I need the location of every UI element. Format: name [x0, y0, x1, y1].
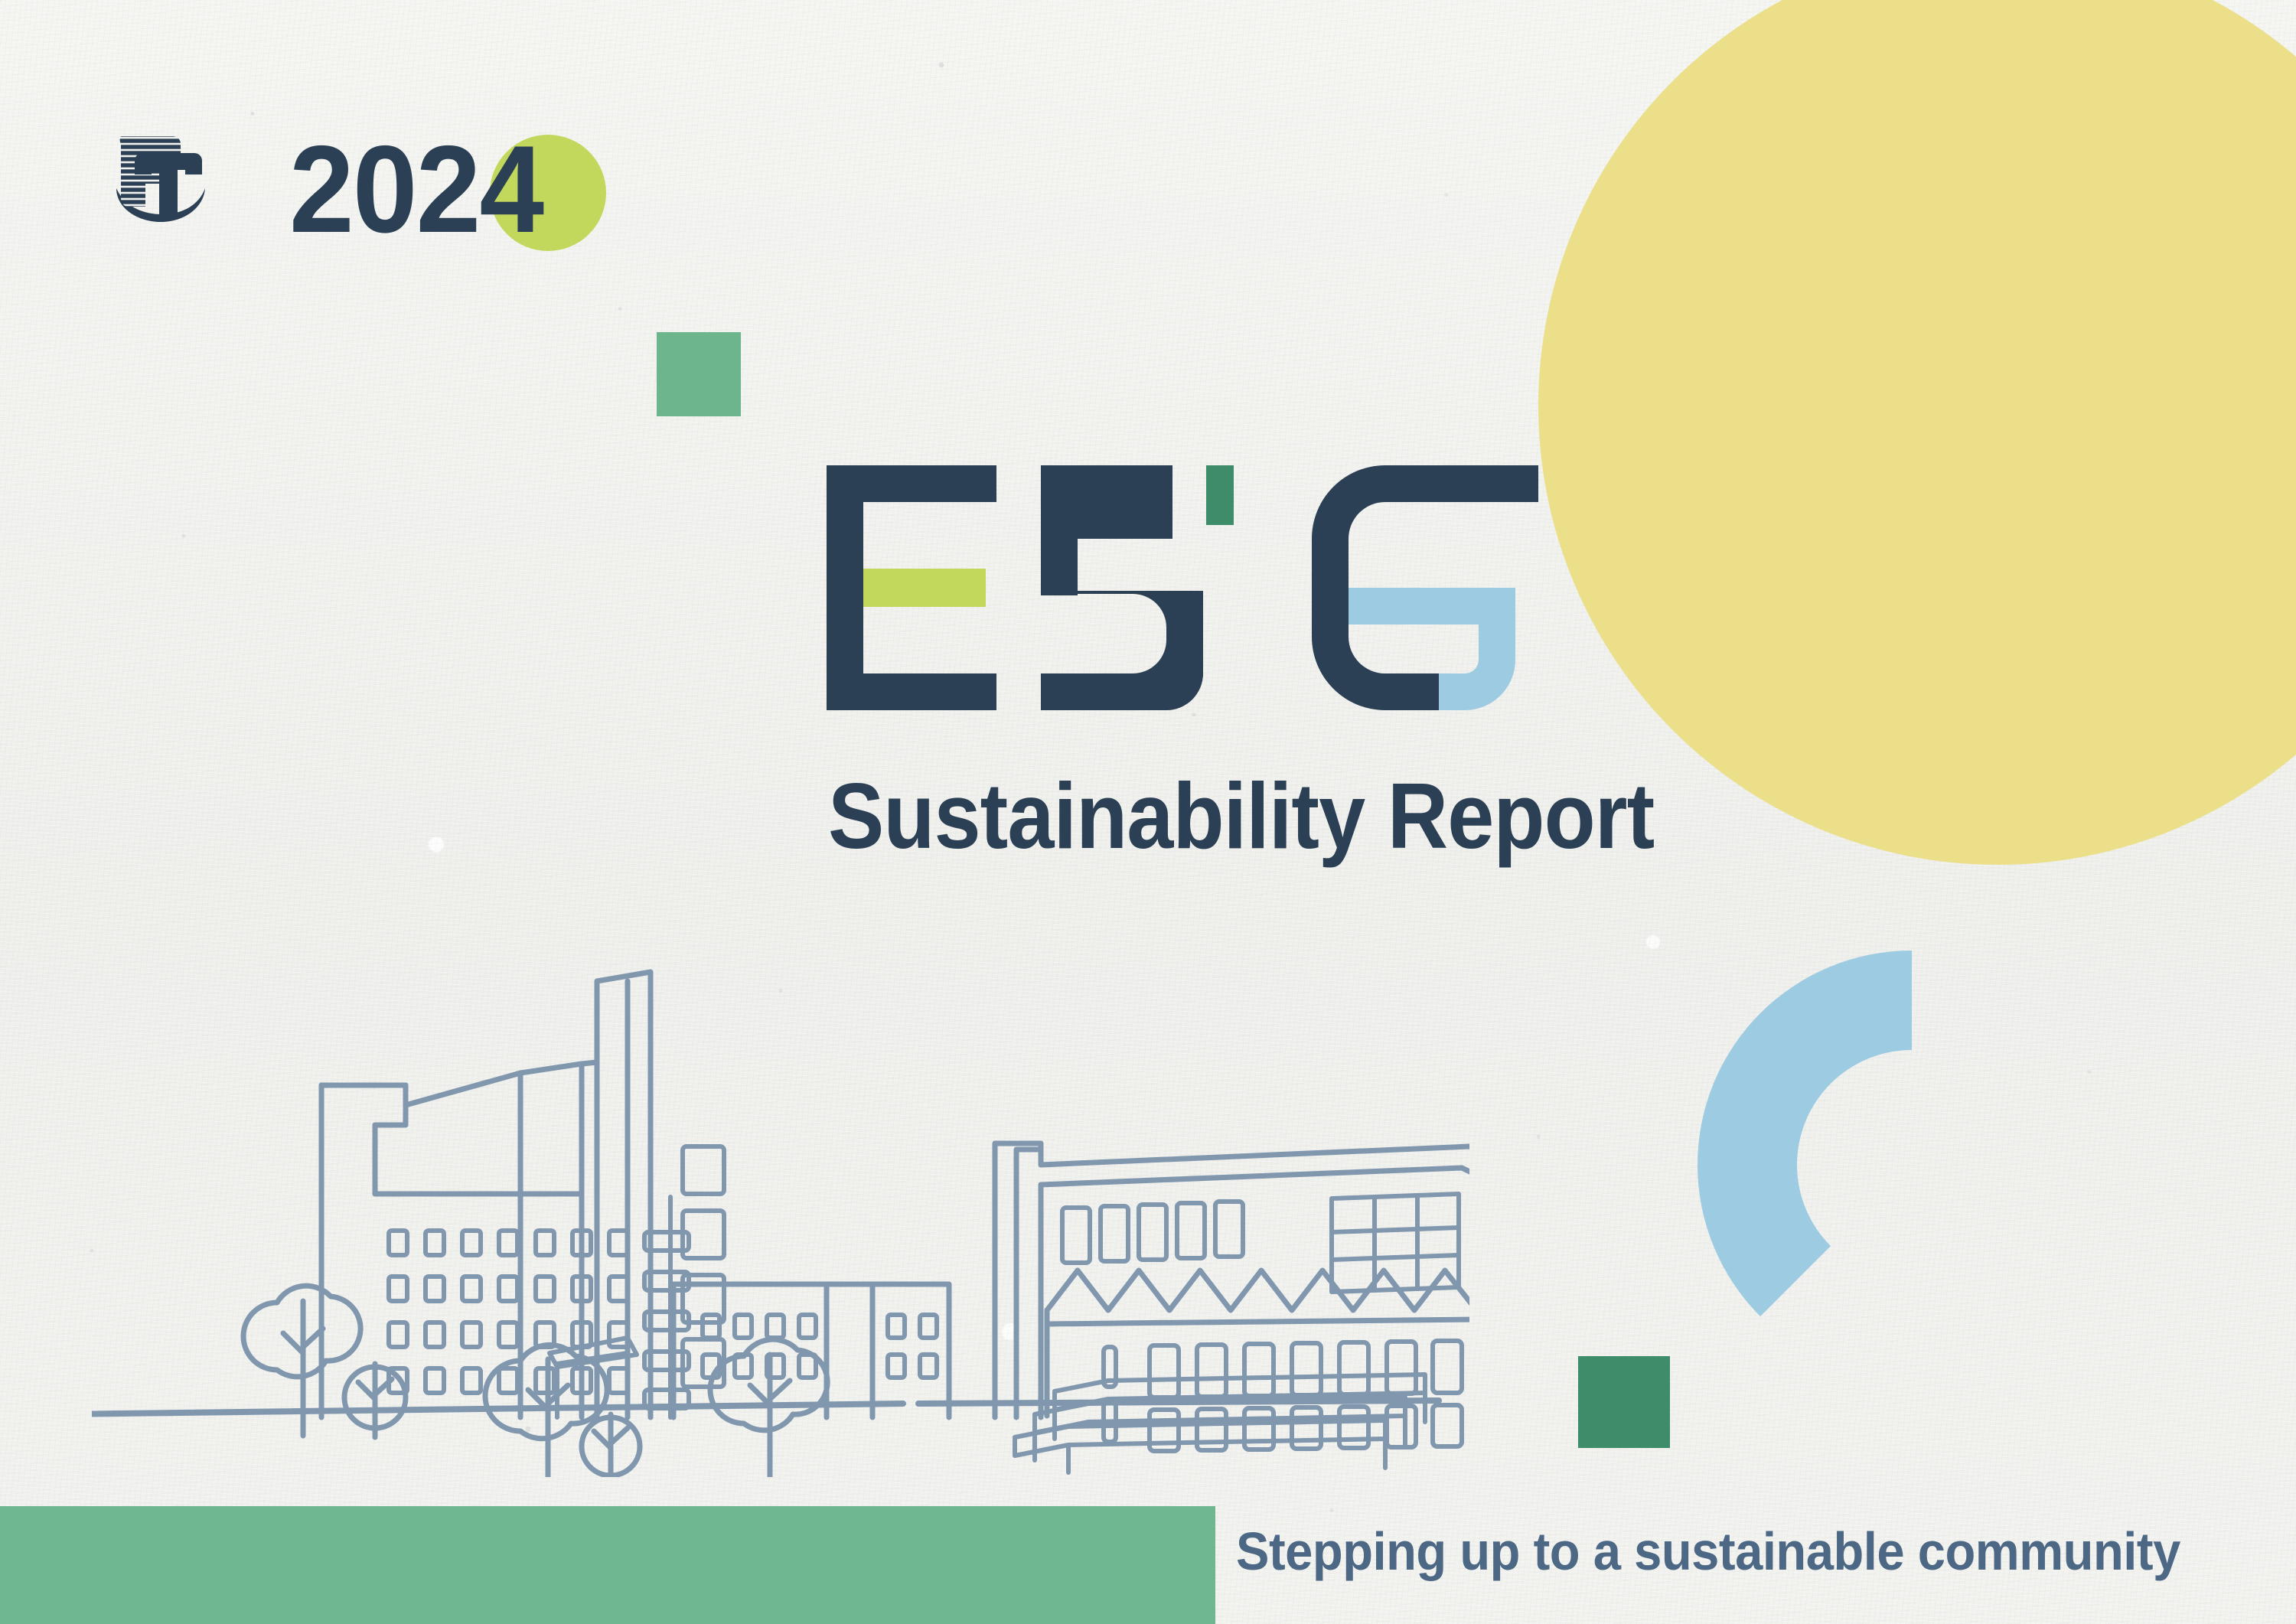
page-title: Sustainability Report — [828, 765, 1792, 866]
forest-green-square-decoration — [1578, 1356, 1670, 1448]
factory-campus-illustration — [92, 941, 1469, 1477]
year-badge: 2024 — [289, 113, 559, 266]
report-cover: 2024 — [0, 0, 2296, 1624]
esg-green-accent — [1206, 465, 1234, 525]
green-footer-bar — [0, 1506, 1215, 1624]
cover-header: 2024 — [0, 0, 2296, 291]
year-label: 2024 — [289, 113, 543, 266]
cover-tagline: Stepping up to a sustainable community — [1236, 1521, 2204, 1581]
ft-company-logo-icon — [107, 129, 211, 233]
esg-wordmark — [827, 465, 1538, 710]
mint-green-square-decoration — [657, 332, 741, 416]
